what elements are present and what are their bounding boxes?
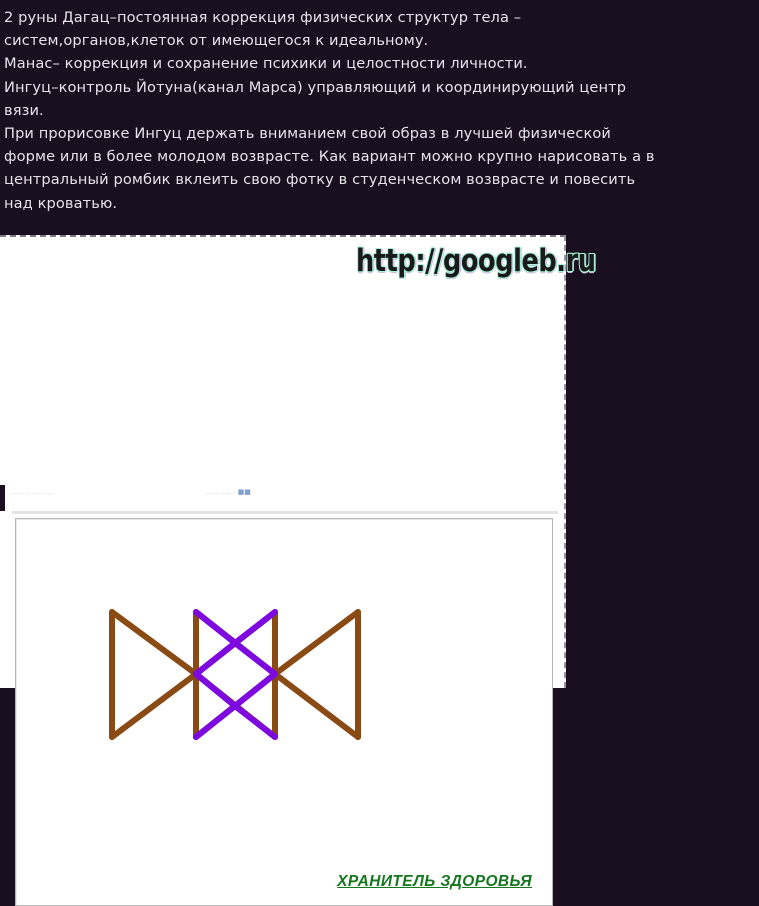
purple-diamond-lower-right: [235, 674, 275, 706]
watermark-url: http://googleb.ru: [356, 243, 596, 279]
stroke-right-lower-diagonal: [275, 674, 358, 737]
faint-text-right: ■■: [238, 488, 251, 496]
article-line: систем,органов,клеток от имеющегося к ид…: [4, 29, 744, 52]
panel-faint-header-text: ........ .......... ...... ...... ■■: [12, 488, 558, 500]
article-text-block: 2 руны Дагац–постоянная коррекция физиче…: [4, 6, 744, 215]
article-line: При прорисовке Ингуц держать вниманием с…: [4, 122, 744, 145]
stroke-left-lower-diagonal: [112, 674, 196, 737]
article-line: Ингуц–контроль Йотуна(канал Марса) управ…: [4, 76, 744, 99]
article-line: вязи.: [4, 99, 744, 122]
stroke-left-upper-diagonal: [112, 612, 196, 674]
article-line: форме или в более молодом возврасте. Как…: [4, 145, 744, 168]
panel-separator-rule: [12, 511, 558, 514]
article-line: центральный ромбик вклеить свою фотку в …: [4, 168, 744, 191]
purple-lower-left-out: [196, 706, 235, 737]
purple-diamond-lower-left: [196, 674, 235, 706]
rune-strokes-purple: [196, 612, 275, 737]
rune-bind-diagram: Рунический став: Дагац — Манас — Ингуц: [16, 519, 552, 905]
purple-lower-right-out: [235, 706, 275, 737]
figure-frame: Рунический став: Дагац — Манас — Ингуц: [15, 518, 553, 906]
purple-diamond-upper-right: [235, 643, 275, 674]
stroke-right-upper-diagonal: [275, 612, 358, 674]
panel-edge-marker: [0, 485, 5, 511]
figure-caption[interactable]: ХРАНИТЕЛЬ ЗДОРОВЬЯ: [337, 873, 532, 891]
purple-upper-left-in: [196, 612, 235, 643]
purple-upper-right-out: [235, 612, 275, 643]
purple-diamond-upper-left: [196, 643, 235, 674]
faint-text-left: ........ ..........: [12, 488, 54, 496]
faint-text-mid: ...... ......: [207, 488, 236, 496]
article-line: 2 руны Дагац–постоянная коррекция физиче…: [4, 6, 744, 29]
article-line: над кроватью.: [4, 192, 744, 215]
content-panel: ........ .......... ...... ...... ■■ Рун…: [0, 235, 566, 688]
rune-strokes-brown: [112, 612, 358, 737]
article-line: Манас– коррекция и сохранение психики и …: [4, 52, 744, 75]
